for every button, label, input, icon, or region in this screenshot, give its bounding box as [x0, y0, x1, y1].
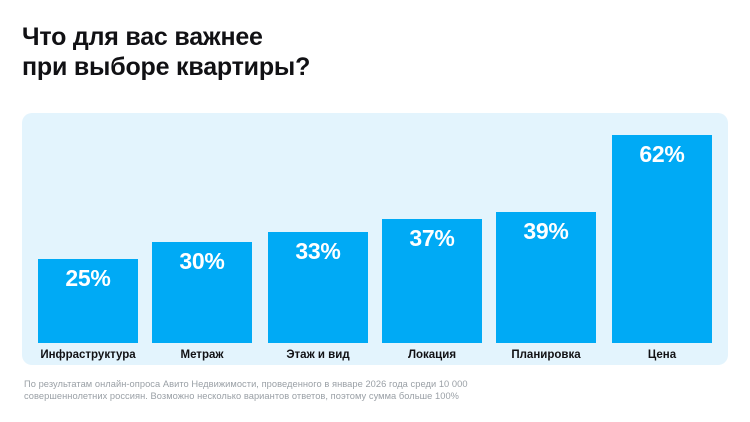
bar-value-3: 37% — [382, 225, 482, 251]
bar-2[interactable]: 33% Этаж и вид — [268, 232, 368, 343]
bar-value-4: 39% — [496, 218, 596, 244]
bar-4[interactable]: 39% Планировка — [496, 212, 596, 343]
bar-3[interactable]: 37% Локация — [382, 219, 482, 343]
bar-value-5: 62% — [612, 141, 712, 167]
bar-group-0: 25% Инфраструктура — [38, 259, 138, 343]
bar-group-2: 33% Этаж и вид — [268, 232, 368, 343]
bar-group-5: 62% Цена — [612, 135, 712, 343]
bar-value-2: 33% — [268, 238, 368, 264]
footnote-line-2: совершеннолетних россиян. Возможно неско… — [24, 390, 724, 402]
bar-0[interactable]: 25% Инфраструктура — [38, 259, 138, 343]
bar-label-5: Цена — [590, 348, 728, 362]
bar-1[interactable]: 30% Метраж — [152, 242, 252, 343]
bar-chart: 25% Инфраструктура 30% Метраж 33% Этаж и… — [22, 113, 728, 365]
page-title-line-1: Что для вас важнее — [22, 22, 642, 52]
bar-group-1: 30% Метраж — [152, 242, 252, 343]
bar-5[interactable]: 62% Цена — [612, 135, 712, 343]
footnote-line-1: По результатам онлайн-опроса Авито Недви… — [24, 378, 724, 390]
page-title-line-2: при выборе квартиры? — [22, 52, 642, 82]
chart-panel: 25% Инфраструктура 30% Метраж 33% Этаж и… — [22, 113, 728, 365]
page-title: Что для вас важнее при выборе квартиры? — [22, 22, 642, 82]
bar-group-3: 37% Локация — [382, 219, 482, 343]
bar-value-0: 25% — [38, 265, 138, 291]
footnote: По результатам онлайн-опроса Авито Недви… — [24, 378, 724, 402]
bar-value-1: 30% — [152, 248, 252, 274]
bar-group-4: 39% Планировка — [496, 212, 596, 343]
